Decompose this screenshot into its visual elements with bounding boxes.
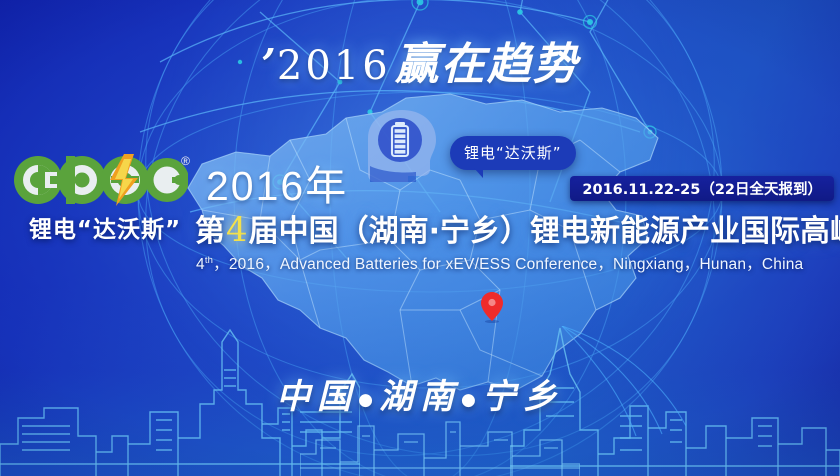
- vignette-overlay: [0, 0, 840, 476]
- conference-banner: ’2016赢在趋势: [0, 0, 840, 476]
